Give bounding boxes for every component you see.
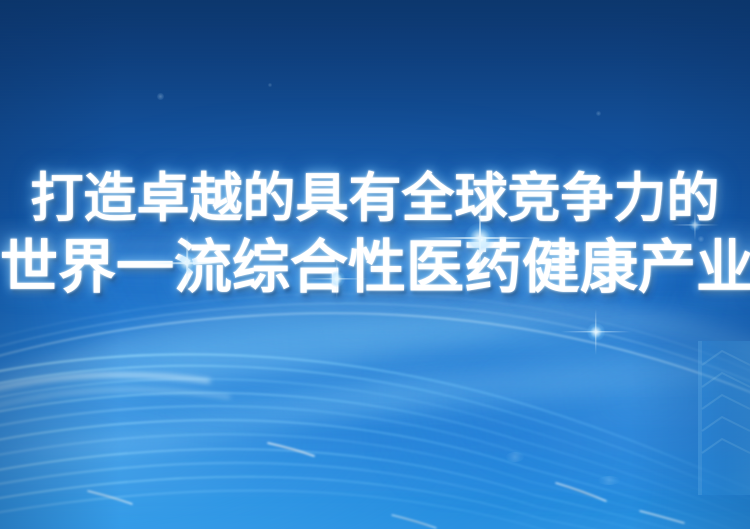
banner-headline: 打造卓越的具有全球竞争力的 世界一流综合性医药健康产业集团 <box>0 166 750 302</box>
banner-image: 打造卓越的具有全球竞争力的 世界一流综合性医药健康产业集团 <box>0 0 750 529</box>
headline-line-2: 世界一流综合性医药健康产业集团 <box>0 232 750 302</box>
headline-line-1: 打造卓越的具有全球竞争力的 <box>0 166 750 230</box>
